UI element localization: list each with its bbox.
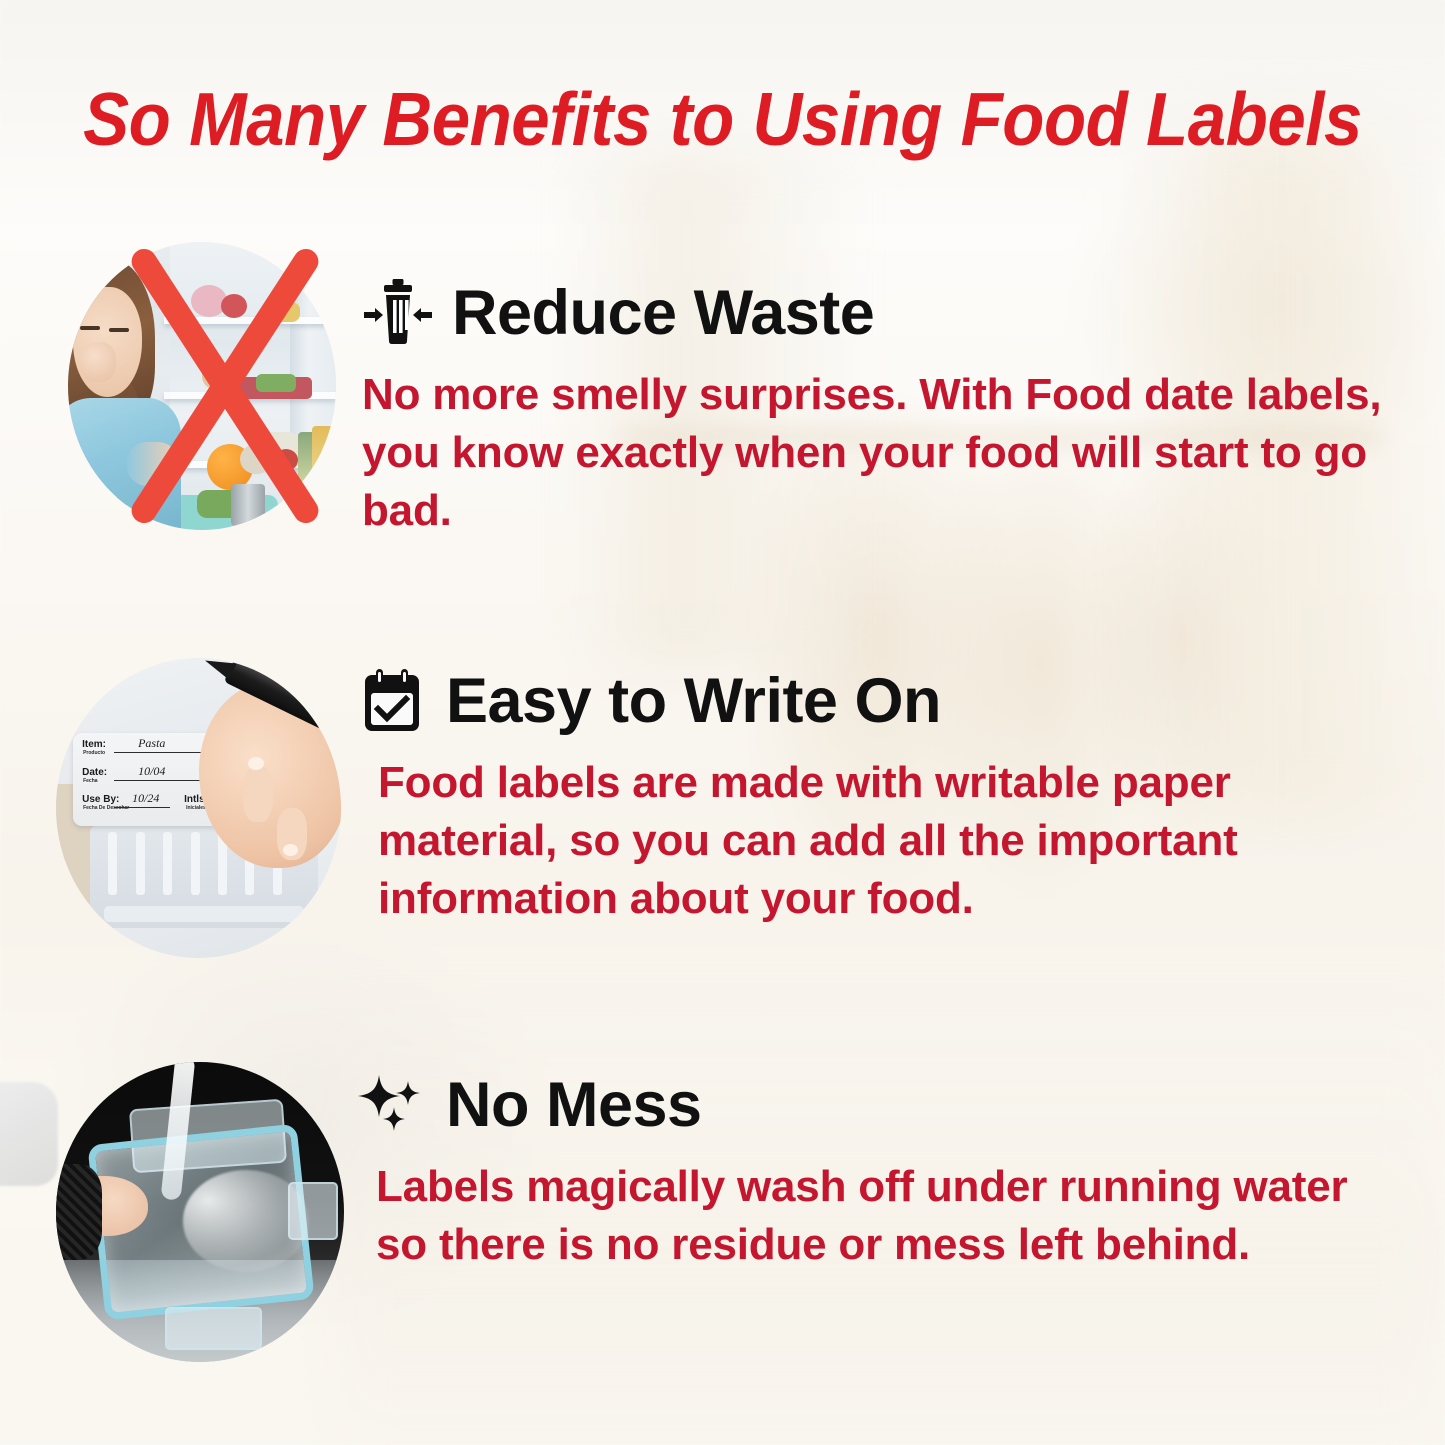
- benefit-description: Labels magically wash off under running …: [376, 1158, 1366, 1274]
- poster-title: So Many Benefits to Using Food Labels: [58, 76, 1387, 162]
- label-field-key: Item:: [82, 739, 106, 750]
- label-field-value: Pasta: [138, 736, 165, 751]
- benefit-row-easy-to-write-on: Item: Producto Pasta Date: Fecha 10/04 U…: [0, 640, 1445, 970]
- benefit-title: Easy to Write On: [446, 668, 941, 734]
- sparkles-icon: [356, 1067, 428, 1143]
- benefit-row-reduce-waste: Reduce Waste No more smelly surprises. W…: [0, 232, 1445, 562]
- benefit-text-reduce-waste: Reduce Waste No more smelly surprises. W…: [362, 270, 1412, 540]
- label-field-subkey: Iniciales: [186, 805, 206, 811]
- benefit-description: Food labels are made with writable paper…: [378, 754, 1388, 928]
- benefits-poster: So Many Benefits to Using Food Labels: [0, 0, 1445, 1445]
- photo-hand-writing-label: Item: Producto Pasta Date: Fecha 10/04 U…: [56, 658, 341, 958]
- benefit-title: No Mess: [446, 1072, 702, 1138]
- label-field-value: 10/24: [132, 791, 159, 806]
- trash-reduce-icon: [362, 275, 434, 351]
- benefit-text-easy-to-write-on: Easy to Write On Food labels are made wi…: [356, 658, 1406, 928]
- benefit-row-no-mess: No Mess Labels magically wash off under …: [0, 1040, 1445, 1370]
- label-field-value: 10/04: [138, 764, 165, 779]
- label-field-key: Use By:: [82, 794, 119, 805]
- label-field-subkey: Producto: [83, 750, 105, 756]
- benefit-description: No more smelly surprises. With Food date…: [362, 366, 1412, 540]
- benefit-text-no-mess: No Mess Labels magically wash off under …: [356, 1062, 1406, 1274]
- label-field-subkey: Fecha: [83, 778, 97, 784]
- calendar-check-icon: [356, 663, 428, 739]
- label-field-subkey: Fecha De Desechar: [83, 805, 129, 811]
- photo-woman-smelling-fridge: [68, 242, 336, 530]
- benefit-title: Reduce Waste: [452, 280, 874, 346]
- label-field-key: Date:: [82, 767, 107, 778]
- photo-rinsing-container-lid: [56, 1062, 344, 1362]
